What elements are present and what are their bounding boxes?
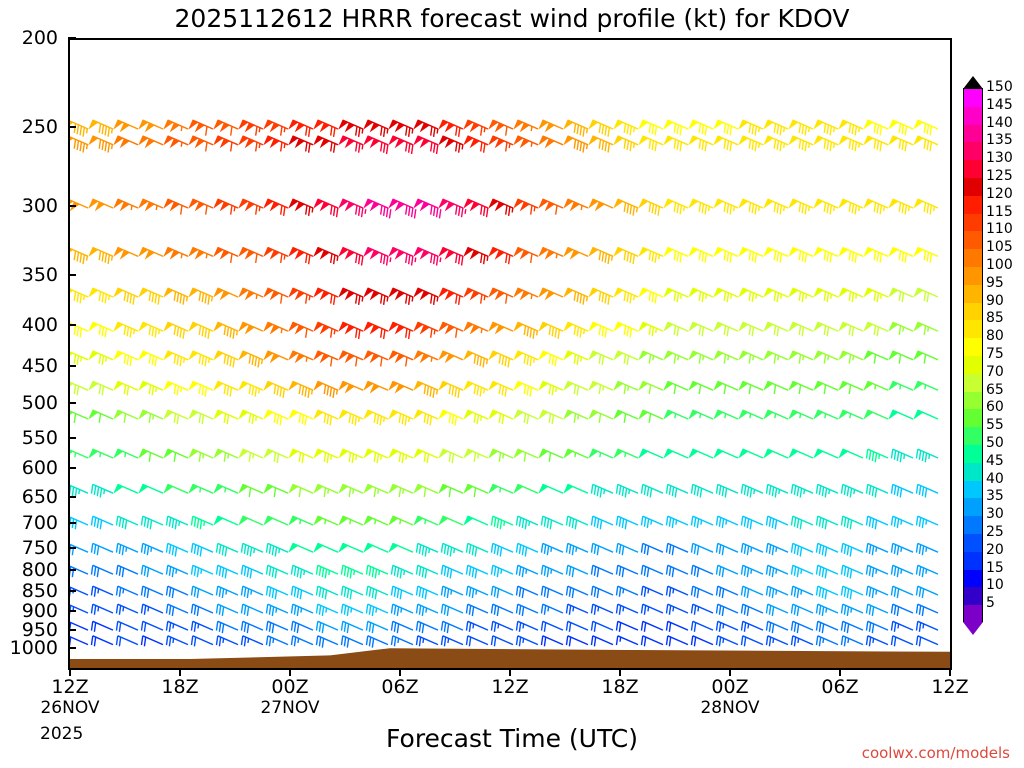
wind-barb <box>664 449 688 458</box>
wind-barb <box>70 288 88 303</box>
wind-barb <box>591 565 613 577</box>
wind-barb <box>216 586 238 598</box>
colorbar-segment <box>964 427 982 445</box>
wind-barb <box>766 516 788 529</box>
wind-barb <box>639 410 663 423</box>
wind-barb <box>616 543 638 555</box>
wind-barb <box>116 516 138 529</box>
wind-barb <box>666 484 688 497</box>
colorbar-tick-label: 10 <box>986 580 1004 591</box>
wind-barb <box>339 543 363 552</box>
wind-barb <box>864 410 888 419</box>
y-tick <box>68 629 76 631</box>
y-tick-label: 250 <box>0 116 58 138</box>
wind-barb <box>566 586 588 598</box>
x-tick-label: 00Z <box>245 676 335 698</box>
wind-barb <box>414 120 438 137</box>
wind-barb <box>839 381 863 394</box>
y-tick-label: 300 <box>0 195 58 217</box>
wind-barb <box>866 543 888 555</box>
wind-barb <box>539 322 563 338</box>
colorbar-segment <box>964 356 982 374</box>
x-tick <box>619 668 621 676</box>
wind-barb <box>139 322 163 337</box>
wind-barb <box>364 288 388 305</box>
wind-barb <box>891 543 913 555</box>
wind-barb <box>864 351 888 364</box>
wind-barb <box>439 516 463 525</box>
colorbar-segment <box>964 320 982 338</box>
wind-barb <box>314 288 338 305</box>
wind-barb <box>89 120 113 136</box>
colorbar-tick-label: 90 <box>986 296 1004 307</box>
colorbar-segment <box>964 107 982 125</box>
wind-barb <box>514 322 538 338</box>
credit-link[interactable]: coolwx.com/models <box>862 744 1010 762</box>
wind-barb <box>464 322 488 333</box>
colorbar-segment <box>964 142 982 160</box>
colorbar-tick-label: 100 <box>986 260 1013 271</box>
wind-barb <box>216 543 238 556</box>
wind-barb <box>839 199 863 214</box>
colorbar-tick-label: 15 <box>986 563 1004 574</box>
wind-barb <box>714 248 738 263</box>
wind-barb <box>116 565 138 577</box>
wind-barb <box>666 586 688 597</box>
wind-barb <box>389 322 413 339</box>
wind-barb <box>639 449 663 458</box>
wind-barb <box>189 120 213 135</box>
colorbar-tick-label: 145 <box>986 100 1013 111</box>
wind-barb <box>239 449 263 462</box>
colorbar-tick-label: 150 <box>986 82 1013 93</box>
wind-barb <box>889 351 913 364</box>
wind-barb <box>264 288 288 303</box>
wind-barb <box>289 248 313 265</box>
wind-barb <box>439 410 463 425</box>
colorbar-tick-label: 45 <box>986 456 1004 467</box>
wind-barb <box>314 381 338 397</box>
colorbar-tick-label: 65 <box>986 385 1004 396</box>
colorbar-segment <box>964 463 982 481</box>
wind-barb <box>641 516 663 528</box>
wind-barb <box>764 351 788 364</box>
wind-barb <box>314 484 338 497</box>
wind-barb <box>189 351 213 366</box>
wind-barb <box>739 199 763 214</box>
wind-barb <box>439 484 463 497</box>
wind-barb <box>664 288 688 302</box>
wind-barb <box>489 199 513 216</box>
wind-barb <box>239 248 263 263</box>
wind-barb <box>214 199 238 214</box>
wind-barb <box>639 351 663 364</box>
wind-barb <box>639 288 663 303</box>
wind-barb <box>714 351 738 364</box>
wind-barb <box>139 199 163 210</box>
wind-barb <box>789 248 813 263</box>
wind-barb <box>789 449 813 458</box>
wind-barb <box>914 248 938 263</box>
wind-barb <box>241 586 263 598</box>
wind-barb <box>564 322 588 337</box>
wind-barb <box>439 449 463 463</box>
wind-barb <box>739 410 763 419</box>
wind-barb <box>364 410 388 425</box>
wind-barb <box>916 449 938 462</box>
wind-barb <box>689 120 713 135</box>
wind-barb <box>764 248 788 263</box>
wind-barb <box>614 120 638 135</box>
wind-barb <box>89 136 113 152</box>
wind-barb <box>91 604 113 615</box>
wind-barb <box>91 586 113 597</box>
wind-barb <box>339 248 363 266</box>
terrain-fill <box>70 632 950 668</box>
y-tick-label: 400 <box>0 314 58 336</box>
x-tick <box>289 668 291 676</box>
wind-barb <box>914 288 938 302</box>
wind-barb <box>516 516 538 529</box>
wind-barb <box>489 288 513 303</box>
wind-barb <box>364 351 388 366</box>
wind-barb <box>889 322 913 335</box>
wind-barb <box>266 543 288 556</box>
wind-barb <box>70 351 88 365</box>
wind-barb <box>191 516 213 529</box>
wind-barb <box>914 199 938 214</box>
wind-barb <box>764 410 788 419</box>
wind-barb <box>70 410 88 423</box>
wind-barb <box>541 543 563 555</box>
wind-barb <box>714 381 738 394</box>
x-tick-label: 06Z <box>355 676 445 698</box>
wind-barb <box>741 484 763 497</box>
wind-barb <box>389 449 413 463</box>
wind-barb <box>441 543 463 556</box>
wind-barb <box>414 381 438 397</box>
wind-barb <box>516 565 538 577</box>
wind-barb <box>716 565 738 577</box>
y-tick <box>68 324 76 326</box>
wind-barb <box>414 516 438 525</box>
wind-barb <box>691 565 713 577</box>
colorbar-segment <box>964 570 982 588</box>
wind-barb <box>464 449 488 462</box>
wind-barb <box>764 136 788 151</box>
wind-barb <box>289 136 313 153</box>
wind-barb <box>689 410 713 419</box>
wind-barb <box>516 621 538 632</box>
wind-barb <box>539 199 563 214</box>
wind-barb <box>741 543 763 555</box>
wind-barb <box>539 449 563 462</box>
wind-barb <box>889 410 913 419</box>
wind-barb <box>891 516 913 528</box>
wind-barb <box>414 288 438 305</box>
wind-barb <box>214 288 238 299</box>
colorbar-tick-label: 30 <box>986 509 1004 520</box>
wind-barb <box>616 621 638 632</box>
wind-barb <box>164 449 188 462</box>
wind-barb <box>189 136 213 151</box>
wind-barb <box>539 351 563 366</box>
wind-barb <box>641 543 663 555</box>
wind-barb <box>566 565 588 577</box>
wind-barb <box>614 322 638 337</box>
wind-barb <box>814 120 838 135</box>
wind-barb <box>791 543 813 556</box>
wind-barb <box>89 381 113 395</box>
wind-barb <box>764 449 788 458</box>
wind-barb <box>214 484 238 493</box>
wind-barb <box>714 120 738 135</box>
wind-barb <box>841 516 863 529</box>
wind-barb <box>364 322 388 339</box>
wind-barb <box>589 199 613 210</box>
wind-barb <box>241 604 263 616</box>
y-tick <box>68 547 76 549</box>
wind-barb <box>489 381 513 396</box>
wind-barb <box>89 248 113 264</box>
colorbar-segment <box>964 196 982 214</box>
wind-barb <box>89 199 113 210</box>
wind-barb <box>389 516 413 525</box>
wind-barb <box>489 449 513 462</box>
wind-barb <box>839 288 863 302</box>
colorbar-tick-label: 25 <box>986 527 1004 538</box>
wind-barb <box>864 248 888 263</box>
colorbar-tick-label: 130 <box>986 153 1013 164</box>
wind-barb <box>614 410 638 423</box>
wind-barb <box>839 322 863 336</box>
wind-barb <box>664 199 688 214</box>
y-tick <box>68 569 76 571</box>
wind-barb <box>464 136 488 153</box>
wind-barb <box>914 136 938 151</box>
wind-barb <box>591 484 613 497</box>
x-tick-label: 00Z <box>685 676 775 698</box>
wind-barb <box>841 586 863 599</box>
colorbar-segment <box>964 392 982 410</box>
wind-barb <box>589 248 613 264</box>
wind-barb <box>464 381 488 396</box>
wind-barb <box>91 543 113 555</box>
colorbar-segment <box>964 214 982 232</box>
y-tick <box>68 402 76 404</box>
wind-barb <box>514 199 538 214</box>
wind-barb <box>564 120 588 136</box>
wind-barb <box>339 288 363 305</box>
wind-barb <box>866 484 888 497</box>
wind-barb <box>739 136 763 151</box>
wind-barb <box>364 543 388 552</box>
wind-barb <box>714 449 738 458</box>
wind-barb <box>164 120 188 131</box>
wind-barb <box>164 484 188 493</box>
wind-barb <box>541 604 563 615</box>
wind-barb <box>439 136 463 153</box>
colorbar-segment <box>964 231 982 249</box>
wind-barb <box>266 586 288 599</box>
wind-barb <box>341 565 363 578</box>
wind-barb <box>889 248 913 263</box>
wind-barb <box>841 604 863 616</box>
wind-barb <box>139 449 163 462</box>
y-tick-label: 500 <box>0 392 58 414</box>
wind-barb <box>564 199 588 210</box>
x-tick-label: 18Z <box>575 676 665 698</box>
wind-barb <box>764 199 788 214</box>
wind-barb <box>516 604 538 616</box>
wind-barb <box>789 410 813 419</box>
wind-barb <box>616 586 638 597</box>
wind-barb <box>816 565 838 578</box>
wind-barb <box>141 565 163 577</box>
colorbar-segment <box>964 338 982 356</box>
wind-barb <box>664 351 688 364</box>
wind-barb <box>441 604 463 616</box>
wind-barb <box>539 136 563 147</box>
wind-barb <box>489 410 513 424</box>
wind-barb <box>814 199 838 214</box>
wind-barb <box>466 604 488 616</box>
colorbar-segment <box>964 285 982 303</box>
wind-barb <box>614 381 638 394</box>
wind-barb <box>816 586 838 599</box>
wind-barb <box>691 604 713 615</box>
wind-barb <box>589 351 613 365</box>
wind-barb <box>566 621 588 632</box>
colorbar-segment <box>964 249 982 267</box>
wind-barb <box>164 199 188 214</box>
wind-barb <box>791 586 813 598</box>
wind-barb <box>216 604 238 616</box>
wind-barb <box>864 288 888 302</box>
wind-barb <box>114 248 138 259</box>
wind-barb <box>416 586 438 599</box>
wind-barb <box>289 449 313 463</box>
wind-barb <box>491 604 513 616</box>
wind-barb <box>789 322 813 336</box>
wind-barb <box>689 136 713 151</box>
wind-barb <box>666 621 688 632</box>
wind-barb <box>591 604 613 615</box>
wind-barb <box>541 621 563 632</box>
wind-barb <box>214 410 238 424</box>
wind-barb <box>766 604 788 616</box>
wind-barb <box>264 322 288 333</box>
colorbar-tick-label: 70 <box>986 367 1004 378</box>
colorbar-tick-label: 50 <box>986 438 1004 449</box>
wind-barb <box>239 516 263 525</box>
wind-barb <box>841 484 863 497</box>
colorbar-tick-label: 120 <box>986 189 1013 200</box>
wind-barb <box>191 586 213 598</box>
wind-barb <box>716 604 738 616</box>
wind-barb <box>689 248 713 263</box>
x-date-label: 26NOV <box>25 698 115 718</box>
wind-barb <box>689 288 713 302</box>
wind-barb <box>189 288 213 304</box>
wind-barb <box>641 604 663 615</box>
wind-barb <box>889 199 913 214</box>
wind-barb <box>164 288 188 304</box>
wind-barb <box>364 449 388 463</box>
wind-barb <box>564 288 588 304</box>
wind-barb <box>389 381 413 392</box>
wind-barb <box>114 381 138 395</box>
wind-barb <box>891 621 913 632</box>
colorbar-segment <box>964 498 982 516</box>
colorbar-tick-label: 125 <box>986 171 1013 182</box>
wind-barb <box>691 543 713 555</box>
wind-barb <box>691 586 713 598</box>
colorbar-segment <box>964 552 982 570</box>
y-tick <box>68 610 76 612</box>
wind-barb <box>764 381 788 394</box>
wind-barb <box>489 351 513 367</box>
wind-barb <box>214 351 238 367</box>
wind-barb <box>239 199 263 214</box>
y-tick <box>68 274 76 276</box>
wind-barb <box>814 449 838 458</box>
wind-barb <box>639 199 663 215</box>
wind-barb <box>70 565 88 577</box>
wind-barb <box>564 410 588 423</box>
wind-barb <box>689 449 713 458</box>
wind-barb <box>339 516 363 525</box>
colorbar-segment <box>964 178 982 196</box>
colorbar-segment <box>964 89 982 107</box>
wind-barb <box>739 248 763 263</box>
wind-barb <box>414 199 441 218</box>
wind-barb <box>439 199 466 217</box>
wind-barb <box>366 604 388 616</box>
wind-barb <box>614 351 638 365</box>
wind-barb <box>164 136 188 147</box>
wind-barb <box>564 484 588 493</box>
x-date-label: 27NOV <box>245 698 335 718</box>
y-tick <box>68 467 76 469</box>
wind-barb <box>691 621 713 632</box>
wind-barb <box>114 351 138 366</box>
wind-barb <box>141 516 163 529</box>
wind-barb <box>491 565 513 577</box>
wind-barb <box>291 604 313 616</box>
wind-barb <box>541 516 563 529</box>
wind-barb <box>739 322 763 336</box>
wind-barb <box>689 199 713 214</box>
wind-barb <box>166 516 188 529</box>
wind-barb <box>91 621 113 632</box>
wind-barb <box>289 199 313 216</box>
wind-barb <box>116 621 138 632</box>
wind-barb <box>289 543 313 552</box>
wind-barb <box>239 322 263 333</box>
wind-barb <box>439 248 463 266</box>
y-tick-label: 850 <box>0 580 58 602</box>
wind-barb <box>314 322 338 337</box>
wind-barb <box>839 449 863 458</box>
wind-barb <box>89 449 113 458</box>
wind-barb <box>766 586 788 598</box>
wind-barb <box>139 351 163 366</box>
wind-barb <box>316 565 338 578</box>
colorbar-tick-label: 135 <box>986 135 1013 146</box>
wind-barb <box>489 484 513 493</box>
colorbar-tick-label: 110 <box>986 224 1013 235</box>
